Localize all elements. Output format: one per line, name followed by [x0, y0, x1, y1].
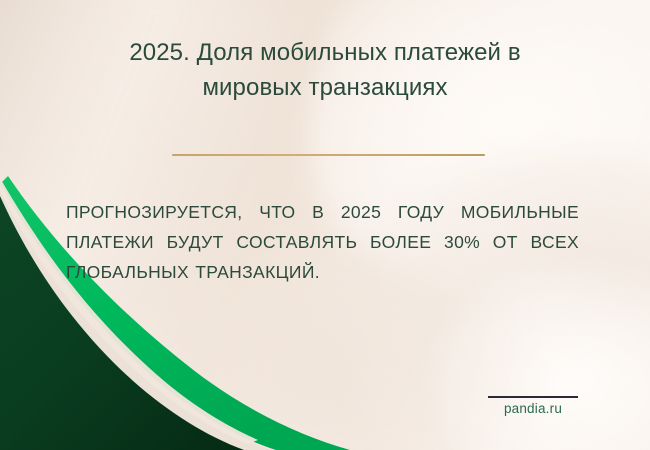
slide-title-line-1: 2025. Доля мобильных платежей в: [95, 36, 555, 71]
footer-source-label: pandia.ru: [488, 401, 578, 416]
slide-title: 2025. Доля мобильных платежей в мировых …: [95, 36, 555, 106]
slide-body-text: ПРОГНОЗИРУЕТСЯ, ЧТО В 2025 ГОДУ МОБИЛЬНЫ…: [66, 197, 579, 287]
gold-divider: [172, 154, 485, 156]
footer: pandia.ru: [488, 396, 620, 416]
slide-title-line-2: мировых транзакциях: [95, 71, 555, 106]
slide-canvas: 2025. Доля мобильных платежей в мировых …: [0, 0, 650, 450]
footer-rule: [488, 396, 578, 398]
